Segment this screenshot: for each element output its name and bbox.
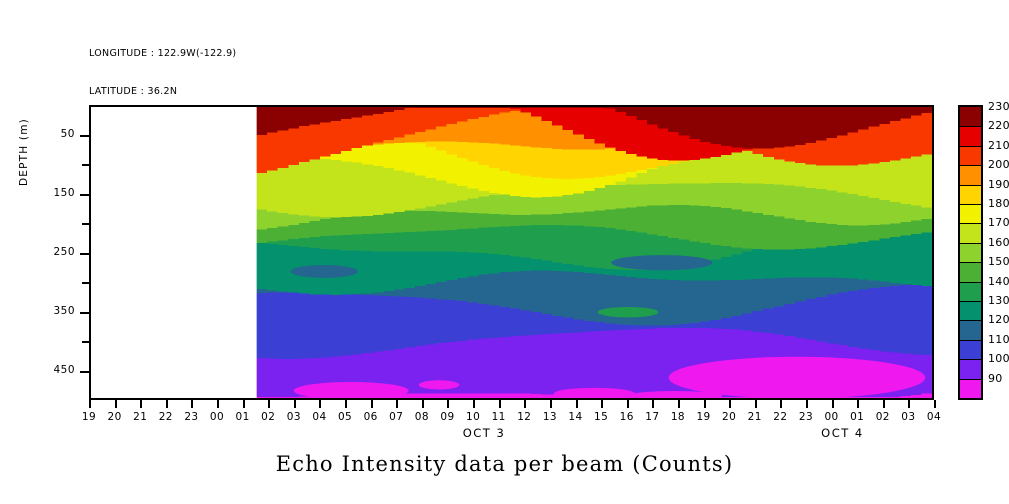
x-tick-20 <box>601 400 603 408</box>
colorbar-tick-label-210: 210 <box>988 139 1009 152</box>
colorbar-band-170 <box>960 223 981 242</box>
x-tick-31 <box>883 400 885 408</box>
x-tick-18 <box>550 400 552 408</box>
x-axis-day-label-1: OCT 4 <box>821 426 864 440</box>
x-tick-8 <box>294 400 296 408</box>
x-tick-7 <box>268 400 270 408</box>
colorbar-band-150 <box>960 262 981 281</box>
contour-intrusion-3 <box>598 307 659 317</box>
x-tick-29 <box>832 400 834 408</box>
y-tick-label-450: 450 <box>31 364 75 376</box>
colorbar-tick-label-120: 120 <box>988 313 1009 326</box>
colorbar-tick-label-140: 140 <box>988 275 1009 288</box>
colorbar-band-120 <box>960 320 981 339</box>
colorbar-band-210 <box>960 146 981 165</box>
x-tick-24 <box>704 400 706 408</box>
x-tick-15 <box>473 400 475 408</box>
x-tick-5 <box>217 400 219 408</box>
colorbar-divider-160 <box>960 243 981 244</box>
colorbar-band-200 <box>960 165 981 184</box>
colorbar-band-130 <box>960 301 981 320</box>
y-tick-label-350: 350 <box>31 305 75 317</box>
x-tick-17 <box>524 400 526 408</box>
colorbar-band-100 <box>960 359 981 378</box>
y-tick-150 <box>80 194 89 196</box>
x-tick-6 <box>243 400 245 408</box>
colorbar-band-90 <box>960 379 981 398</box>
x-tick-11 <box>371 400 373 408</box>
colorbar-tick-label-130: 130 <box>988 294 1009 307</box>
colorbar-tick-label-160: 160 <box>988 236 1009 249</box>
contour-canvas <box>91 107 932 398</box>
colorbar-tick-label-170: 170 <box>988 216 1009 229</box>
colorbar-divider-130 <box>960 301 981 302</box>
x-tick-2 <box>140 400 142 408</box>
y-tick-label-150: 150 <box>31 187 75 199</box>
x-tick-26 <box>755 400 757 408</box>
latitude-text: LATITUDE : 36.2N <box>89 86 236 99</box>
y-tick-label-50: 50 <box>31 128 75 140</box>
y-tick-350 <box>80 312 89 314</box>
colorbar-band-160 <box>960 243 981 262</box>
x-tick-1 <box>115 400 117 408</box>
x-axis-day-label-0: OCT 3 <box>463 426 506 440</box>
y-tick-50 <box>80 135 89 137</box>
x-tick-9 <box>319 400 321 408</box>
colorbar-band-180 <box>960 204 981 223</box>
colorbar-tick-label-220: 220 <box>988 119 1009 132</box>
contour-pocket-90-3 <box>669 357 926 398</box>
colorbar-tick-label-110: 110 <box>988 333 1009 346</box>
colorbar-band-230 <box>960 107 981 126</box>
colorbar-divider-190 <box>960 185 981 186</box>
colorbar-divider-220 <box>960 126 981 127</box>
colorbar-divider-110 <box>960 340 981 341</box>
x-tick-label-33: 04 <box>919 411 949 423</box>
colorbar-divider-120 <box>960 320 981 321</box>
y-tick-200 <box>82 223 89 225</box>
colorbar-tick-label-150: 150 <box>988 255 1009 268</box>
colorbar-divider-210 <box>960 146 981 147</box>
contour-intrusion-1 <box>611 255 712 270</box>
colorbar-tick-label-180: 180 <box>988 197 1009 210</box>
x-tick-22 <box>652 400 654 408</box>
colorbar-tick-label-100: 100 <box>988 352 1009 365</box>
colorbar-band-190 <box>960 185 981 204</box>
colorbar-divider-180 <box>960 204 981 205</box>
x-tick-12 <box>396 400 398 408</box>
x-tick-30 <box>857 400 859 408</box>
contour-bands <box>91 107 932 398</box>
colorbar-divider-140 <box>960 282 981 283</box>
contour-pocket-90-1 <box>419 380 460 389</box>
x-tick-33 <box>934 400 936 408</box>
x-tick-19 <box>576 400 578 408</box>
colorbar-band-220 <box>960 126 981 145</box>
longitude-text: LONGITUDE : 122.9W(-122.9) <box>89 48 236 61</box>
chart-title: Echo Intensity data per beam (Counts) <box>0 452 1009 476</box>
colorbar-divider-170 <box>960 223 981 224</box>
x-tick-21 <box>627 400 629 408</box>
x-tick-3 <box>166 400 168 408</box>
contour-intrusion-0 <box>290 265 357 278</box>
y-tick-400 <box>82 341 89 343</box>
x-tick-23 <box>678 400 680 408</box>
colorbar[interactable] <box>958 105 983 400</box>
colorbar-tick-label-200: 200 <box>988 158 1009 171</box>
colorbar-tick-label-90: 90 <box>988 372 1003 385</box>
x-tick-28 <box>806 400 808 408</box>
colorbar-divider-150 <box>960 262 981 263</box>
x-tick-10 <box>345 400 347 408</box>
colorbar-band-110 <box>960 340 981 359</box>
y-tick-label-250: 250 <box>31 246 75 258</box>
contour-intrusion-2 <box>493 278 534 285</box>
y-tick-100 <box>82 164 89 166</box>
colorbar-tick-label-230: 230 <box>988 100 1009 113</box>
x-tick-25 <box>729 400 731 408</box>
x-tick-32 <box>908 400 910 408</box>
colorbar-band-140 <box>960 282 981 301</box>
x-tick-14 <box>447 400 449 408</box>
colorbar-divider-200 <box>960 165 981 166</box>
x-tick-4 <box>191 400 193 408</box>
x-tick-27 <box>780 400 782 408</box>
x-tick-16 <box>499 400 501 408</box>
y-axis-label: DEPTH (m) <box>18 118 30 186</box>
contour-plot[interactable] <box>89 105 934 400</box>
colorbar-tick-label-190: 190 <box>988 178 1009 191</box>
y-tick-450 <box>80 371 89 373</box>
y-tick-250 <box>80 253 89 255</box>
colorbar-divider-100 <box>960 359 981 360</box>
no-data-region <box>91 107 257 398</box>
x-tick-13 <box>422 400 424 408</box>
x-tick-0 <box>89 400 91 408</box>
y-tick-300 <box>82 282 89 284</box>
colorbar-divider-90 <box>960 379 981 380</box>
